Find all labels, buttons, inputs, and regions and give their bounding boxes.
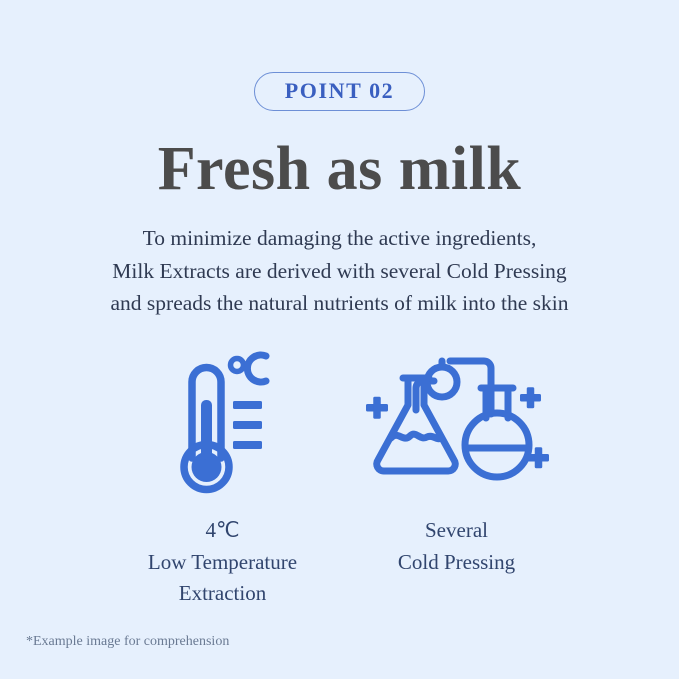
promo-panel: POINT 02 Fresh as milk To minimize damag…: [0, 0, 679, 679]
feature-caption-low-temperature: 4℃ Low Temperature Extraction: [148, 515, 297, 610]
body-paragraph: To minimize damaging the active ingredie…: [0, 222, 679, 320]
body-line-2: Milk Extracts are derived with several C…: [0, 255, 679, 288]
caption-line-2: Low Temperature: [148, 547, 297, 579]
feature-cold-pressing: Several Cold Pressing: [342, 348, 572, 578]
feature-caption-cold-pressing: Several Cold Pressing: [398, 515, 515, 578]
feature-list: 4℃ Low Temperature Extraction: [0, 348, 679, 610]
badge-row: POINT 02: [0, 72, 679, 111]
page-title: Fresh as milk: [0, 137, 679, 202]
flasks-icon: [362, 348, 552, 498]
body-line-1: To minimize damaging the active ingredie…: [0, 222, 679, 255]
caption-line-1: Several: [398, 515, 515, 547]
footnote: *Example image for comprehension: [26, 634, 229, 650]
caption-line-3: Extraction: [148, 578, 297, 610]
caption-line-1: 4℃: [148, 515, 297, 547]
feature-low-temperature: 4℃ Low Temperature Extraction: [108, 348, 338, 610]
flasks-icon-wrap: [362, 348, 552, 498]
body-line-3: and spreads the natural nutrients of mil…: [0, 287, 679, 320]
thermometer-icon-wrap: [169, 348, 277, 498]
thermometer-icon: [169, 348, 277, 498]
caption-line-2: Cold Pressing: [398, 547, 515, 579]
point-badge: POINT 02: [254, 72, 426, 111]
